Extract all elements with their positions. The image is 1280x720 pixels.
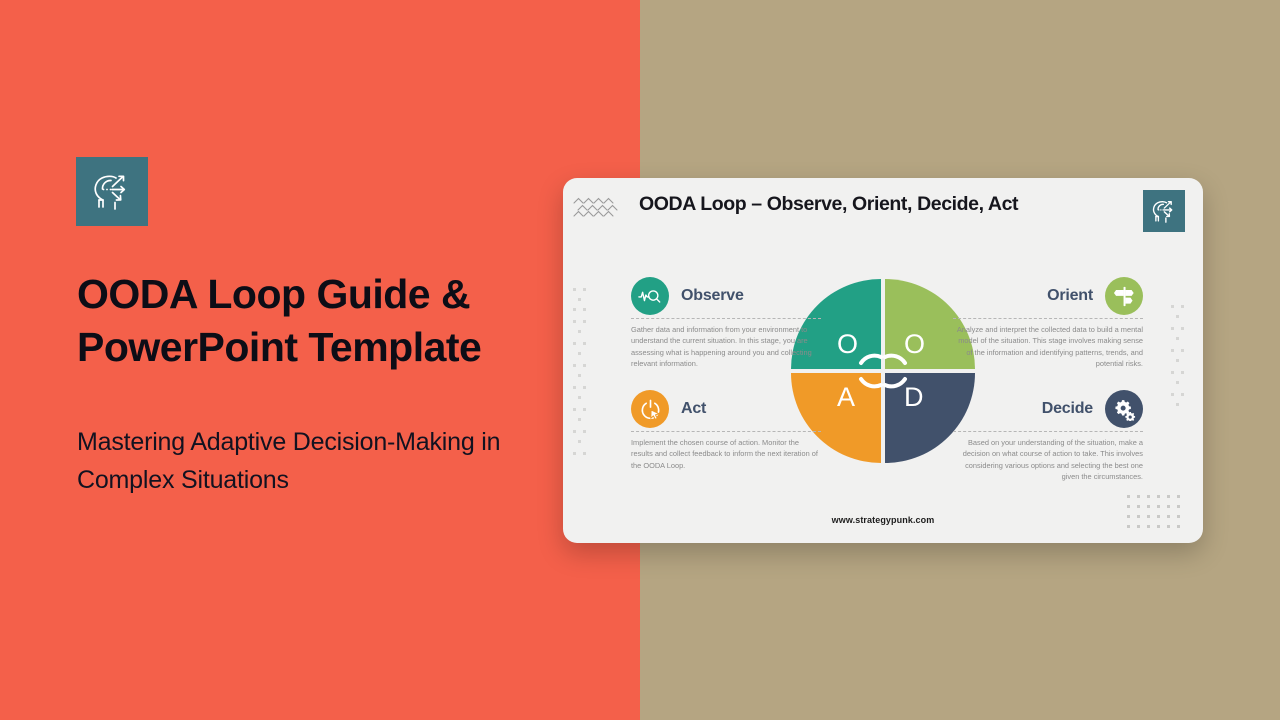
wheel-letter-decide: D xyxy=(904,382,924,413)
section-orient[interactable]: Orient Analyze and interpret the collect… xyxy=(953,277,1143,369)
pulse-magnifier-icon xyxy=(631,277,669,315)
section-decide-divider xyxy=(953,431,1143,432)
dot-pattern-left xyxy=(571,286,597,466)
slide-title: OODA Loop – Observe, Orient, Decide, Act xyxy=(639,193,1018,216)
signpost-icon xyxy=(1105,277,1143,315)
power-cursor-icon xyxy=(631,390,669,428)
wheel-letter-observe: O xyxy=(837,329,858,360)
page-title: OODA Loop Guide & PowerPoint Template xyxy=(77,268,597,375)
page-subtitle: Mastering Adaptive Decision-Making in Co… xyxy=(77,423,547,499)
section-observe-divider xyxy=(631,318,821,319)
section-act-header: Act xyxy=(631,390,821,428)
dot-pattern-right xyxy=(1169,303,1195,413)
section-orient-title: Orient xyxy=(1047,287,1093,305)
slide-stage: OODA Loop Guide & PowerPoint Template Ma… xyxy=(0,0,1280,720)
section-observe-title: Observe xyxy=(681,287,744,305)
gears-icon xyxy=(1105,390,1143,428)
wheel-letter-orient: O xyxy=(904,329,925,360)
brand-logo xyxy=(76,157,148,226)
section-observe[interactable]: Observe Gather data and information from… xyxy=(631,277,821,369)
section-observe-header: Observe xyxy=(631,277,821,315)
section-orient-header: Orient xyxy=(953,277,1143,315)
section-orient-divider xyxy=(953,318,1143,319)
section-act-divider xyxy=(631,431,821,432)
section-decide-header: Decide xyxy=(953,390,1143,428)
slide-card[interactable]: OODA Loop – Observe, Orient, Decide, Act xyxy=(563,178,1203,543)
slide-footer-url[interactable]: www.strategypunk.com xyxy=(563,515,1203,525)
slide-logo xyxy=(1143,190,1185,232)
section-decide-title: Decide xyxy=(1042,400,1093,418)
section-orient-body: Analyze and interpret the collected data… xyxy=(953,324,1143,369)
head-with-arrows-icon xyxy=(1149,197,1179,226)
section-observe-body: Gather data and information from your en… xyxy=(631,324,821,369)
head-with-arrows-icon xyxy=(88,169,136,215)
section-decide-body: Based on your understanding of the situa… xyxy=(953,437,1143,482)
slide-header: OODA Loop – Observe, Orient, Decide, Act xyxy=(563,178,1203,234)
section-decide[interactable]: Decide Based on your understanding of th… xyxy=(953,390,1143,482)
chevron-wave-icon xyxy=(573,196,631,218)
wheel-letter-act: A xyxy=(837,382,855,413)
left-hero-panel: OODA Loop Guide & PowerPoint Template Ma… xyxy=(0,0,640,720)
section-act-body: Implement the chosen course of action. M… xyxy=(631,437,821,471)
section-act-title: Act xyxy=(681,400,706,418)
section-act[interactable]: Act Implement the chosen course of actio… xyxy=(631,390,821,471)
